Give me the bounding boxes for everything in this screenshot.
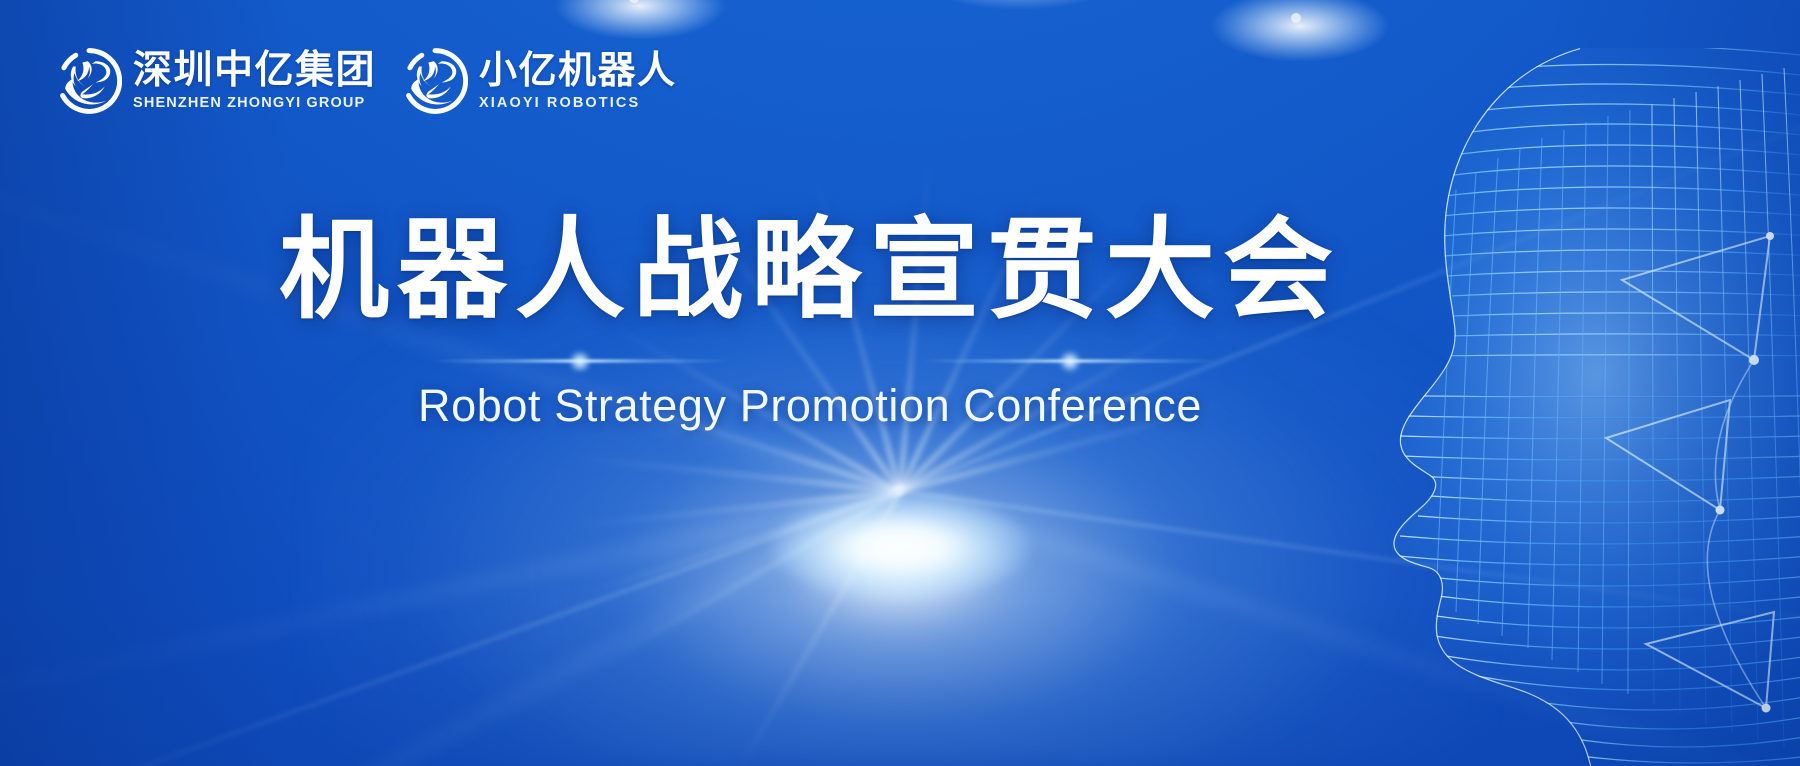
page-title: 机器人战略宣贯大会 (0, 214, 1620, 328)
logo-xiaoyi-text: 小亿机器人 XIAOYI ROBOTICS (479, 52, 677, 111)
logo-zhongyi-group[interactable]: 深圳中亿集团 SHENZHEN ZHONGYI GROUP (56, 48, 376, 114)
logo-zhongyi-name-cn: 深圳中亿集团 (133, 51, 376, 90)
logo-xiaoyi-robotics[interactable]: 小亿机器人 XIAOYI ROBOTICS (402, 48, 677, 114)
xiaoyi-circular-dragon-emblem-icon (402, 48, 468, 114)
page-subtitle: Robot Strategy Promotion Conference (0, 380, 1620, 432)
logo-xiaoyi-name-cn: 小亿机器人 (479, 52, 677, 90)
logo-zhongyi-name-en: SHENZHEN ZHONGYI GROUP (133, 96, 376, 111)
light-flare-icon (920, 360, 1220, 363)
logo-xiaoyi-name-en: XIAOYI ROBOTICS (479, 96, 677, 111)
headline-block: 机器人战略宣贯大会 Robot Strategy Promotion Confe… (0, 214, 1800, 432)
logo-zhongyi-text: 深圳中亿集团 SHENZHEN ZHONGYI GROUP (133, 51, 376, 111)
divider-row (0, 346, 1620, 376)
conference-banner: 深圳中亿集团 SHENZHEN ZHONGYI GROUP 小亿机器人 XIAO… (0, 0, 1800, 766)
zhongyi-circular-dragon-emblem-icon (56, 48, 122, 114)
light-flare-icon (430, 360, 730, 363)
logo-bar: 深圳中亿集团 SHENZHEN ZHONGYI GROUP 小亿机器人 XIAO… (56, 48, 677, 114)
